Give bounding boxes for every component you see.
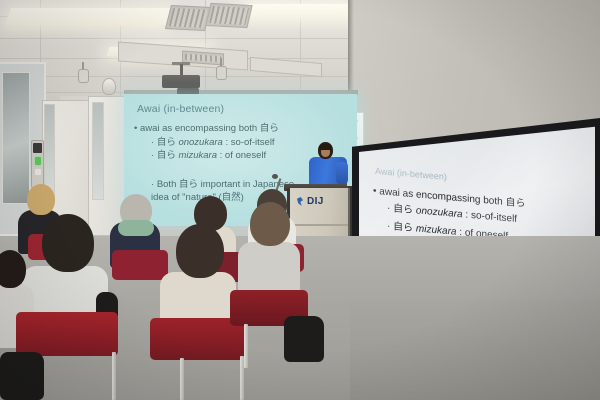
speaker-arm [336, 162, 348, 184]
glass-pane [2, 72, 30, 204]
slide-bullet-main: • awai as encompassing both 自ら [134, 120, 279, 134]
bullet-glyph-small: · [151, 150, 154, 161]
sub2-gloss: : of oneself [220, 150, 266, 161]
slide-sub-bullet-2: · 自ら mizukara : of oneself [151, 147, 266, 161]
sub2-jp: 自ら [157, 150, 179, 161]
sub2-romaji: mizukara [178, 150, 217, 161]
chair-leg [244, 324, 248, 368]
dij-logo-text: DIJ [307, 196, 324, 207]
bullet-glyph: • [134, 123, 137, 134]
air-vent-icon [165, 5, 211, 31]
chair-leg [180, 358, 184, 400]
speaker-at-podium [308, 142, 348, 190]
carpet-floor-right [350, 300, 600, 400]
podium-logo: DIJ [296, 196, 324, 207]
speaker-hair [319, 144, 332, 150]
ceiling-light-panel [5, 8, 171, 25]
door-vision-panel [92, 102, 104, 200]
ceiling-camera-icon [102, 78, 116, 95]
chair-leg [112, 352, 116, 400]
lecture-hall-photo: Awai (in-between) • awai as encompassing… [0, 0, 600, 400]
backpack-on-floor [284, 316, 324, 362]
panel-reader [33, 143, 42, 153]
slide-sub-bullet-1: · 自ら onozukara : so-of-itself [151, 134, 275, 148]
wall-control-panel-icon[interactable] [31, 140, 44, 188]
panel-button[interactable] [35, 169, 41, 175]
panel-green-indicator [35, 157, 41, 165]
slide-bullet-main-text: awai as encompassing both 自ら [140, 123, 279, 134]
slide-title: Awai (in-between) [137, 103, 224, 115]
air-vent-icon [205, 3, 252, 28]
gooseneck-microphone-icon [272, 174, 278, 179]
backpack-on-floor [0, 352, 44, 400]
